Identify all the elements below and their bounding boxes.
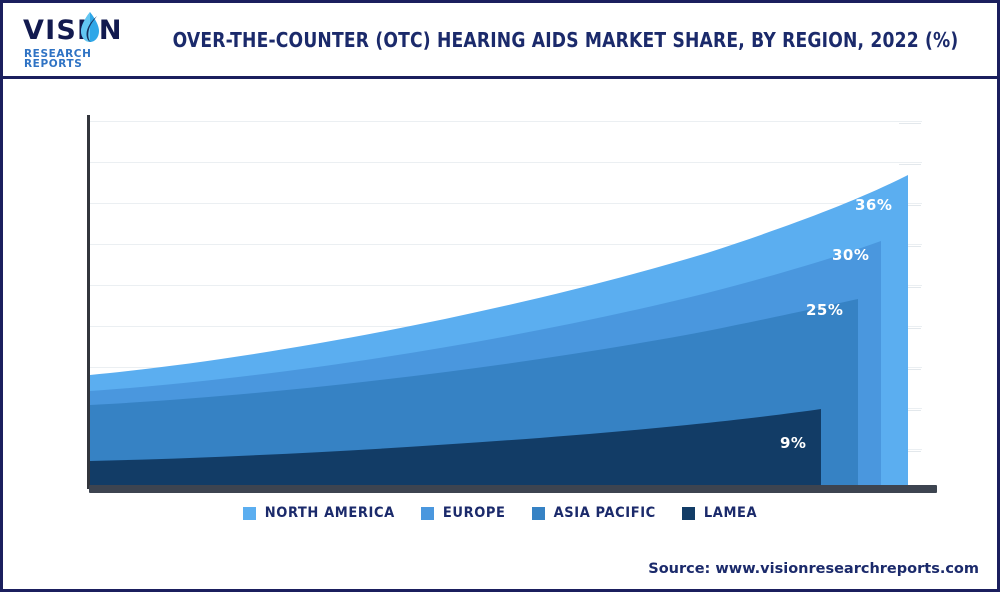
logo-subtitle: RESEARCH REPORTS [24,49,142,70]
page-title: OVER-THE-COUNTER (OTC) HEARING AIDS MARK… [173,28,987,52]
legend-label: EUROPE [443,505,506,521]
legend-label: ASIA PACIFIC [554,505,656,521]
legend-item-asia-pacific[interactable]: ASIA PACIFIC [532,505,656,521]
data-label-asia-pacific: 25% [806,301,843,319]
chart-baseline-bar [89,485,937,493]
vision-research-reports-logo: VISI N RESEARCH REPORTS [17,9,142,71]
chart-infographic: VISI N RESEARCH REPORTS OVER-THE-COUNTER… [0,0,1000,592]
water-drop-icon [78,11,101,44]
legend-label: NORTH AMERICA [265,505,395,521]
data-label-north-america: 36% [855,196,892,214]
chart-legend: NORTH AMERICA EUROPE ASIA PACIFIC LAMEA [3,505,997,521]
header-bar: VISI N RESEARCH REPORTS OVER-THE-COUNTER… [3,3,997,79]
legend-item-lamea[interactable]: LAMEA [682,505,757,521]
data-label-europe: 30% [832,246,869,264]
legend-item-europe[interactable]: EUROPE [421,505,506,521]
legend-item-north-america[interactable]: NORTH AMERICA [243,505,395,521]
legend-label: LAMEA [704,505,757,521]
legend-swatch-icon [682,507,695,520]
data-label-lamea: 9% [780,434,806,452]
legend-swatch-icon [421,507,434,520]
logo-wordmark: VISI N [23,17,123,44]
legend-swatch-icon [532,507,545,520]
source-attribution: Source: www.visionresearchreports.com [648,561,979,577]
legend-swatch-icon [243,507,256,520]
